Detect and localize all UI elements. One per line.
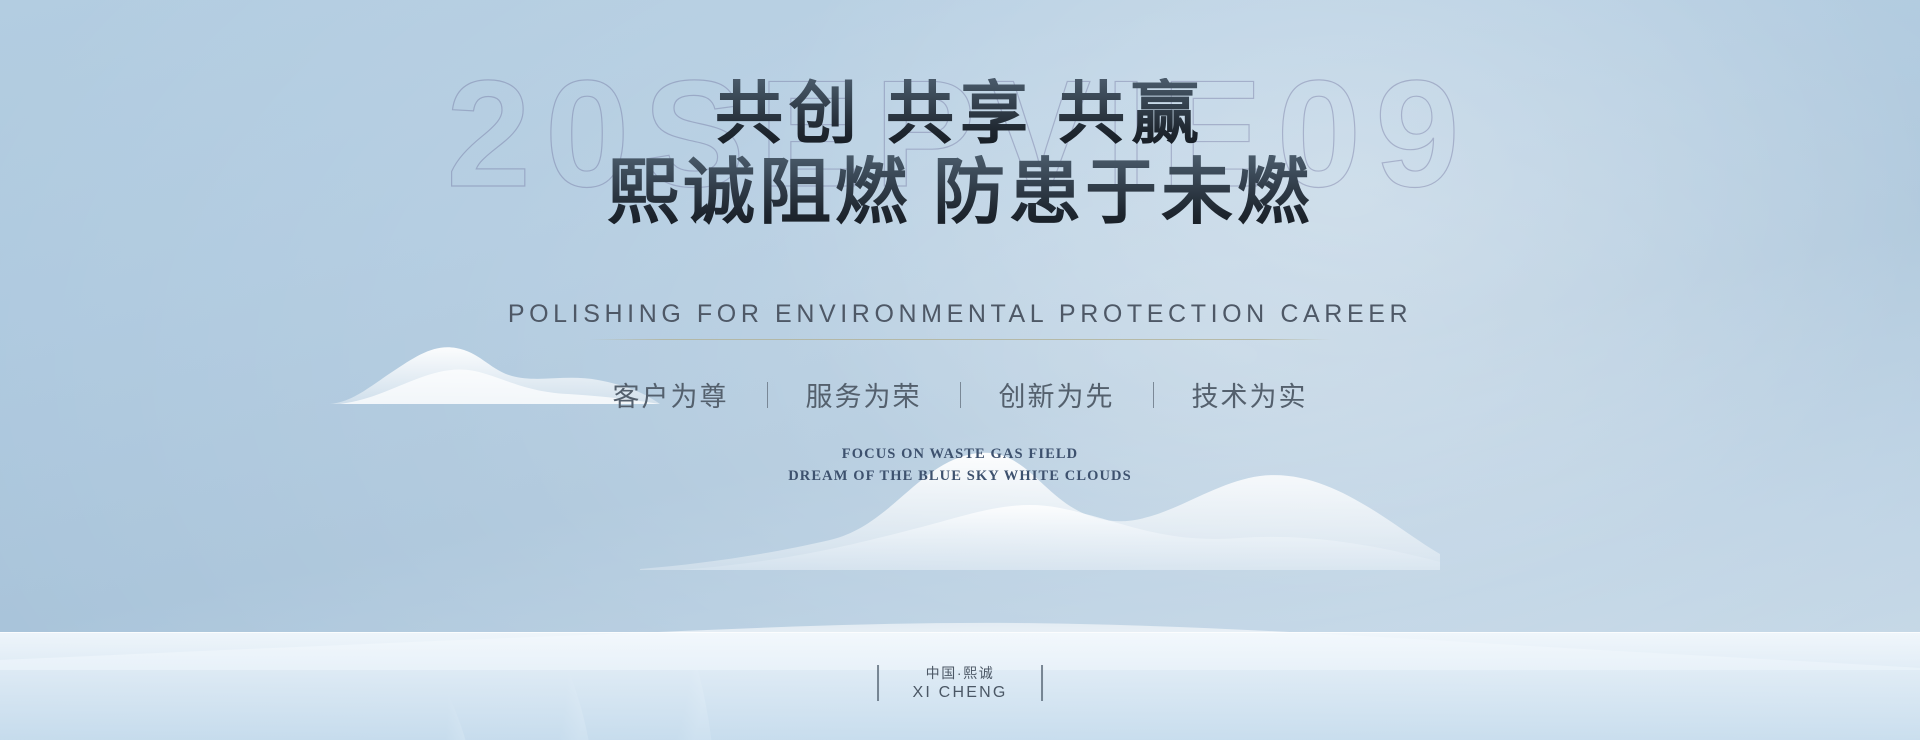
headline-block: 共创 共享 共赢 熙诚阻燃 防患于未燃 (0, 78, 1920, 233)
footer-divider-left (877, 665, 879, 701)
hero-banner: 20SEPVIE09 (0, 0, 1920, 740)
subtitle-english: POLISHING FOR ENVIRONMENTAL PROTECTION C… (0, 300, 1920, 329)
value-separator (767, 382, 768, 408)
micro-english-line-1: FOCUS ON WASTE GAS FIELD (0, 443, 1920, 465)
value-item: 服务为荣 (806, 375, 922, 414)
footer-brand-en: XI CHENG (913, 683, 1008, 704)
horizon-divider (0, 632, 1920, 633)
headline-line-2: 熙诚阻燃 防患于未燃 (0, 155, 1920, 233)
micro-english-block: FOCUS ON WASTE GAS FIELD DREAM OF THE BL… (0, 443, 1920, 487)
value-separator (960, 382, 961, 408)
value-separator (1153, 382, 1154, 408)
subtitle-underline (589, 339, 1331, 340)
micro-english-line-2: DREAM OF THE BLUE SKY WHITE CLOUDS (0, 465, 1920, 487)
values-row: 客户为尊服务为荣创新为先技术为实 (0, 375, 1920, 414)
value-item: 客户为尊 (613, 375, 729, 414)
value-item: 技术为实 (1192, 375, 1308, 414)
footer-divider-right (1041, 665, 1043, 701)
headline-line-1: 共创 共享 共赢 (0, 78, 1920, 151)
footer-brand-cn: 中国·熙诚 (913, 663, 1008, 683)
footer-brand: 中国·熙诚 XI CHENG (877, 663, 1043, 704)
footer-brand-text: 中国·熙诚 XI CHENG (913, 663, 1008, 704)
value-item: 创新为先 (999, 375, 1115, 414)
